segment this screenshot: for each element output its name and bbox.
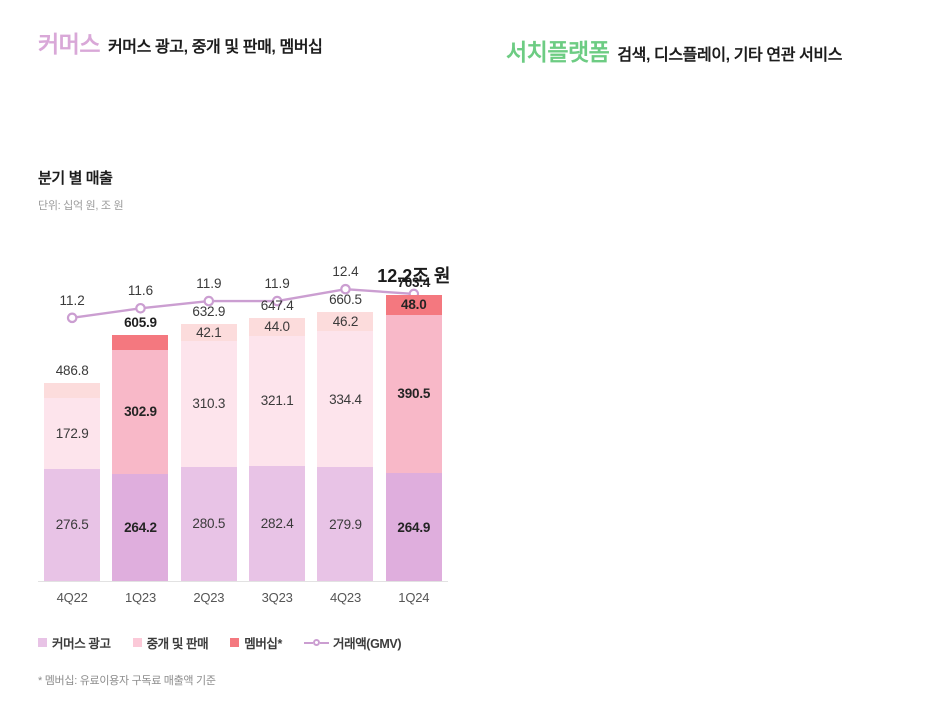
bar-segment: 280.5 <box>181 467 237 581</box>
commerce-chart-unit: 단위: 십억 원, 조 원 <box>38 197 123 213</box>
search-platform-panel: 서치플랫폼 검색, 디스플레이, 기타 연관 서비스 분기 별 매출 단위: 십… <box>470 0 937 707</box>
stacked-bar[interactable]: 44.0321.1282.4 <box>249 318 305 581</box>
stacked-bar[interactable]: 42.1310.3280.5 <box>181 324 237 581</box>
bar-segment: 42.1 <box>181 324 237 341</box>
gmv-value-label: 12.2조 원 <box>377 262 450 288</box>
x-axis-label: 1Q24 <box>380 584 448 610</box>
stacked-bar[interactable]: 302.9264.2 <box>112 335 168 581</box>
bar-total-label: 647.4 <box>261 298 294 313</box>
x-axis-label: 2Q23 <box>175 584 243 610</box>
legend-item[interactable]: 거래액(GMV) <box>304 633 401 652</box>
legend-label: 거래액(GMV) <box>333 633 401 652</box>
bar-total-label: 632.9 <box>192 304 225 319</box>
legend-swatch-icon <box>230 638 239 647</box>
bar-segment <box>112 335 168 351</box>
commerce-x-axis-labels: 4Q221Q232Q233Q234Q231Q24 <box>38 584 448 610</box>
bar-segment-value: 48.0 <box>401 297 426 312</box>
bar-segment: 279.9 <box>317 467 373 581</box>
bar-column: 660.546.2334.4279.9 <box>311 230 379 581</box>
search-platform-header-subtitle: 검색, 디스플레이, 기타 연관 서비스 <box>617 41 842 65</box>
commerce-brand-label: 커머스 <box>38 25 100 59</box>
bar-segment: 390.5 <box>386 315 442 474</box>
bar-segment: 310.3 <box>181 341 237 467</box>
legend-label: 중개 및 판매 <box>147 633 209 652</box>
commerce-legend: 커머스 광고중개 및 판매멤버십*거래액(GMV) <box>38 633 423 652</box>
legend-item[interactable]: 커머스 광고 <box>38 633 111 652</box>
commerce-footnote: * 멤버십: 유료이용자 구독료 매출액 기준 <box>38 672 216 688</box>
bar-segment-value: 310.3 <box>192 396 225 411</box>
bar-total-label: 660.5 <box>329 292 362 307</box>
commerce-header: 커머스 커머스 광고, 중개 및 판매, 멤버십 <box>38 25 322 59</box>
bar-segment-value: 44.0 <box>264 319 289 334</box>
legend-item[interactable]: 중개 및 판매 <box>133 633 209 652</box>
stacked-bar[interactable]: 48.0390.5264.9 <box>386 295 442 581</box>
bar-segment: 46.2 <box>317 312 373 331</box>
bar-segment-value: 172.9 <box>56 426 89 441</box>
bar-segment-value: 264.2 <box>124 520 157 535</box>
bar-segment: 172.9 <box>44 398 100 468</box>
x-axis-label: 3Q23 <box>243 584 311 610</box>
gmv-value-label: 11.9 <box>265 276 290 291</box>
legend-line-icon <box>304 639 329 646</box>
gmv-value-label: 12.4 <box>332 264 358 279</box>
bar-segment-value: 321.1 <box>261 393 294 408</box>
bar-segment-value: 276.5 <box>56 517 89 532</box>
legend-label: 커머스 광고 <box>52 633 111 652</box>
bar-total-label: 605.9 <box>124 315 157 330</box>
x-axis-label: 1Q23 <box>106 584 174 610</box>
bar-segment-value: 334.4 <box>329 392 362 407</box>
bar-total-label: 486.8 <box>56 363 89 378</box>
bar-column: 486.8172.9276.5 <box>38 230 106 581</box>
bar-segment: 264.2 <box>112 474 168 581</box>
commerce-chart-plot: 486.8172.9276.5605.9302.9264.2632.942.13… <box>38 230 448 610</box>
commerce-chart-title: 분기 별 매출 <box>38 167 113 188</box>
bar-segment-value: 46.2 <box>333 314 358 329</box>
legend-swatch-icon <box>133 638 142 647</box>
bar-segment: 282.4 <box>249 466 305 581</box>
search-platform-brand-label: 서치플랫폼 <box>506 33 609 67</box>
bar-segment: 302.9 <box>112 350 168 473</box>
stacked-bar[interactable]: 172.9276.5 <box>44 383 100 581</box>
bar-segment <box>44 383 100 398</box>
commerce-axis-line <box>38 581 448 582</box>
bar-segment-value: 280.5 <box>192 516 225 531</box>
bar-segment: 334.4 <box>317 331 373 467</box>
bar-segment: 48.0 <box>386 295 442 315</box>
legend-swatch-icon <box>38 638 47 647</box>
gmv-value-label: 11.9 <box>196 276 221 291</box>
bar-segment-value: 282.4 <box>261 516 294 531</box>
bar-segment: 276.5 <box>44 469 100 581</box>
commerce-panel: 커머스 커머스 광고, 중개 및 판매, 멤버십 분기 별 매출 단위: 십억 … <box>0 0 470 707</box>
bar-segment-value: 390.5 <box>397 386 430 401</box>
bar-segment-value: 264.9 <box>397 520 430 535</box>
commerce-header-subtitle: 커머스 광고, 중개 및 판매, 멤버십 <box>108 33 322 57</box>
bar-segment-value: 279.9 <box>329 517 362 532</box>
bar-segment: 264.9 <box>386 473 442 581</box>
x-axis-label: 4Q22 <box>38 584 106 610</box>
search-platform-header: 서치플랫폼 검색, 디스플레이, 기타 연관 서비스 <box>506 33 842 67</box>
x-axis-label: 4Q23 <box>311 584 379 610</box>
bar-segment: 44.0 <box>249 318 305 336</box>
legend-label: 멤버십* <box>244 633 282 652</box>
stacked-bar[interactable]: 46.2334.4279.9 <box>317 312 373 581</box>
bar-segment: 321.1 <box>249 336 305 467</box>
gmv-value-label: 11.2 <box>60 293 85 308</box>
bar-segment-value: 302.9 <box>124 404 157 419</box>
legend-item[interactable]: 멤버십* <box>230 633 282 652</box>
bar-segment-value: 42.1 <box>196 325 221 340</box>
gmv-value-label: 11.6 <box>128 283 153 298</box>
